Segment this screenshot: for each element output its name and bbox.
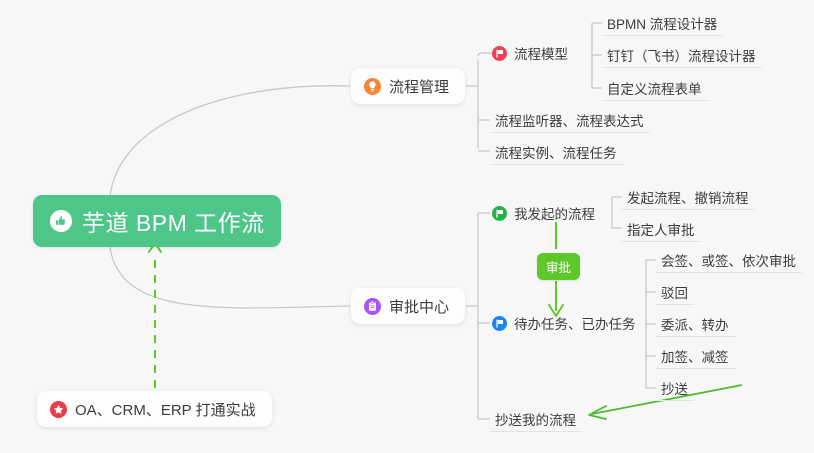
connector-root-to-approval-center xyxy=(110,247,350,308)
node-todo-done-tasks[interactable]: 待办任务、已办任务 xyxy=(492,310,636,336)
flag-red-icon xyxy=(492,46,507,61)
approval-badge[interactable]: 审批 xyxy=(537,253,580,280)
node-process-model-label: 流程模型 xyxy=(514,43,568,63)
leaf-start-cancel-flow[interactable]: 发起流程、撤销流程 xyxy=(622,184,755,210)
root-node[interactable]: 芋道 BPM 工作流 xyxy=(33,195,281,247)
branch-approval-center-label: 审批中心 xyxy=(389,296,449,317)
node-my-initiated-label: 我发起的流程 xyxy=(514,203,595,223)
leaf-cc-to-me[interactable]: 抄送我的流程 xyxy=(490,406,582,432)
clipboard-icon xyxy=(364,298,381,315)
flag-blue-icon xyxy=(492,316,507,331)
leaf-dingtalk-feishu-designer[interactable]: 钉钉（飞书）流程设计器 xyxy=(602,42,762,68)
leaf-countersign[interactable]: 会签、或签、依次审批 xyxy=(656,247,802,273)
leaf-reject[interactable]: 驳回 xyxy=(656,279,694,305)
connector-root-to-process-management xyxy=(110,86,350,196)
lightbulb-icon xyxy=(364,78,381,95)
star-icon xyxy=(50,401,67,418)
flag-green-icon xyxy=(492,206,507,221)
bottom-integration-card[interactable]: OA、CRM、ERP 打通实战 xyxy=(37,391,272,427)
leaf-bpmn-designer[interactable]: BPMN 流程设计器 xyxy=(602,10,723,36)
node-process-model[interactable]: 流程模型 xyxy=(492,40,568,66)
connector-pm-to-model xyxy=(478,53,492,56)
branch-approval-center[interactable]: 审批中心 xyxy=(351,288,465,324)
bottom-integration-label: OA、CRM、ERP 打通实战 xyxy=(75,399,256,420)
mindmap-canvas: 芋道 BPM 工作流 流程管理 流程模型 BPMN 流程设计器 钉钉（飞书）流程… xyxy=(0,0,814,453)
leaf-custom-form[interactable]: 自定义流程表单 xyxy=(602,75,708,101)
leaf-assignee-approval[interactable]: 指定人审批 xyxy=(622,216,701,242)
node-todo-done-tasks-label: 待办任务、已办任务 xyxy=(514,313,636,333)
leaf-instance-task[interactable]: 流程实例、流程任务 xyxy=(490,139,623,165)
leaf-listener-expression[interactable]: 流程监听器、流程表达式 xyxy=(490,107,650,133)
dashed-arrow-bottom-to-root xyxy=(149,243,161,388)
leaf-cc[interactable]: 抄送 xyxy=(656,375,694,401)
branch-process-management-label: 流程管理 xyxy=(389,76,449,97)
node-my-initiated[interactable]: 我发起的流程 xyxy=(492,200,595,226)
leaf-delegate-transfer[interactable]: 委派、转办 xyxy=(656,311,735,337)
thumbs-up-icon xyxy=(50,210,72,232)
branch-process-management[interactable]: 流程管理 xyxy=(351,68,465,104)
root-label: 芋道 BPM 工作流 xyxy=(82,204,265,238)
leaf-add-remove-sign[interactable]: 加签、减签 xyxy=(656,343,735,369)
